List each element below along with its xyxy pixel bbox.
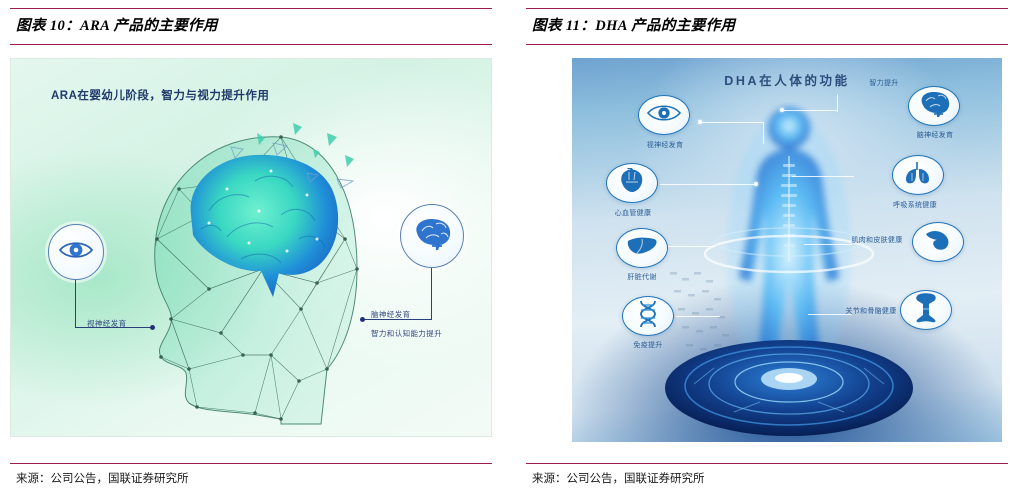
connector-liver bbox=[668, 246, 714, 247]
ara-brain-node bbox=[400, 204, 464, 268]
figure-dha: DHA在人体的功能 bbox=[572, 58, 1002, 442]
source-note-right: 来源：公司公告，国联证券研究所 bbox=[532, 470, 705, 486]
connector-eye-riser bbox=[763, 122, 764, 144]
source-note-left: 来源：公司公告，国联证券研究所 bbox=[16, 470, 189, 486]
dha-label-immunity: 免疫提升 bbox=[620, 340, 676, 350]
dha-node-liver bbox=[616, 228, 668, 268]
dha-node-dna bbox=[622, 296, 674, 336]
brain-icon bbox=[411, 217, 453, 256]
joint-bone-icon bbox=[914, 293, 938, 328]
ara-label-cognition: 智力和认知能力提升 bbox=[371, 328, 442, 339]
source-rule-left bbox=[10, 463, 492, 464]
eye-icon bbox=[59, 239, 93, 266]
connector-lungs bbox=[792, 176, 854, 177]
connector-dot-eye bbox=[698, 120, 702, 124]
dha-node-lungs bbox=[892, 155, 944, 195]
connector-dot-heart bbox=[754, 182, 758, 186]
report-figure-page: 图表 10：ARA 产品的主要作用 ARA在婴幼儿阶段，智力与视力提升作用 bbox=[0, 0, 1032, 497]
dha-label-cardiovascular: 心血管健康 bbox=[600, 208, 666, 218]
dha-node-eye bbox=[638, 95, 690, 135]
title-rule-top bbox=[10, 8, 492, 9]
hologram-platform-graphic bbox=[664, 334, 914, 438]
dha-label-liver-metabolism: 肝脏代谢 bbox=[614, 272, 670, 282]
title-rule-bottom bbox=[10, 44, 492, 45]
wireframe-head-graphic bbox=[131, 119, 381, 429]
page-title-ara: 图表 10：ARA 产品的主要作用 bbox=[16, 14, 218, 35]
panel-dha: 图表 11：DHA 产品的主要作用 DHA在人体的功能 bbox=[516, 0, 1032, 497]
muscle-icon bbox=[923, 228, 953, 257]
connector-dot-brain bbox=[780, 108, 784, 112]
dha-label-brain-nerve: 脑神经发育 bbox=[904, 130, 966, 140]
connector-immunity bbox=[676, 316, 720, 317]
ara-headline: ARA在婴幼儿阶段，智力与视力提升作用 bbox=[51, 87, 269, 103]
ara-eye-leader-vertical bbox=[75, 280, 76, 328]
dha-label-optic-nerve: 视神经发育 bbox=[634, 140, 696, 150]
ara-label-brain-nerve: 脑神经发育 bbox=[371, 309, 411, 320]
dha-headline: DHA在人体的功能 bbox=[724, 70, 849, 89]
connector-brain-riser bbox=[837, 94, 838, 112]
connector-joint bbox=[808, 314, 852, 315]
source-rule-right bbox=[526, 463, 1008, 464]
dha-label-intelligence-boost: 智力提升 bbox=[860, 78, 908, 88]
ara-brain-leader-dot bbox=[360, 317, 365, 322]
figure-ara: ARA在婴幼儿阶段，智力与视力提升作用 bbox=[10, 58, 492, 437]
connector-brain bbox=[782, 110, 838, 111]
lungs-icon bbox=[903, 161, 933, 190]
ara-eye-leader-dot bbox=[150, 325, 155, 330]
dha-label-respiratory: 呼吸系统健康 bbox=[878, 200, 952, 210]
eye-icon bbox=[647, 103, 681, 128]
title-rule-bottom-right bbox=[526, 44, 1008, 45]
brain-icon bbox=[917, 90, 951, 123]
title-rule-top-right bbox=[526, 8, 1008, 9]
dha-node-muscle bbox=[912, 222, 964, 262]
ara-label-optic-nerve: 视神经发育 bbox=[87, 318, 127, 329]
ara-eye-node bbox=[48, 224, 104, 280]
dha-node-heart bbox=[606, 163, 658, 203]
ara-brain-leader-vertical bbox=[431, 268, 432, 320]
connector-heart bbox=[660, 184, 756, 185]
panel-ara: 图表 10：ARA 产品的主要作用 ARA在婴幼儿阶段，智力与视力提升作用 bbox=[0, 0, 516, 497]
page-title-dha: 图表 11：DHA 产品的主要作用 bbox=[532, 14, 735, 35]
heart-icon bbox=[618, 168, 646, 199]
connector-muscle bbox=[804, 244, 852, 245]
dna-icon bbox=[637, 300, 659, 333]
connector-eye bbox=[700, 122, 764, 123]
dha-node-brain bbox=[908, 86, 960, 126]
liver-icon bbox=[626, 236, 658, 261]
